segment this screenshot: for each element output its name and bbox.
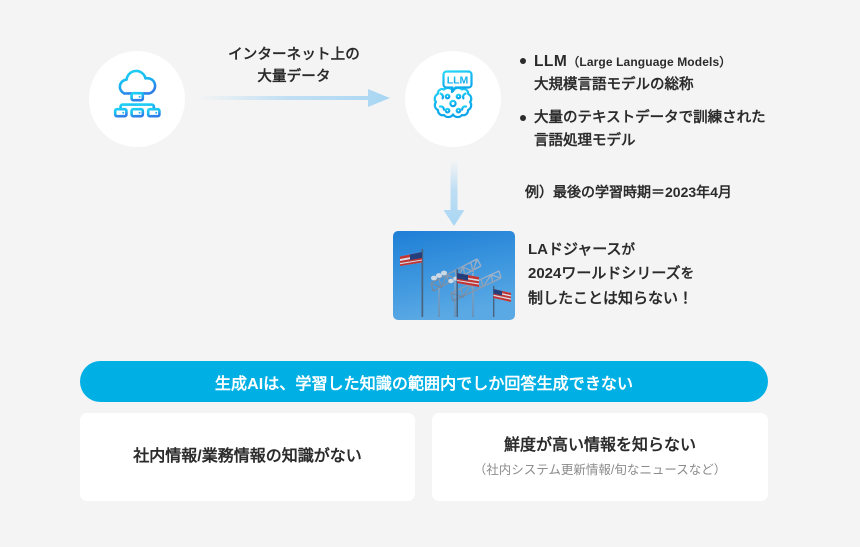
caption-particle: が [622,242,636,257]
llm-icon-circle: LLM [405,51,501,147]
card-subtitle: （社内システム更新情報/旬なニュースなど） [474,462,726,480]
bullet-paren: （Large Language Models） [567,55,731,69]
cloud-network-icon [106,66,168,133]
flow-arrow-label: インターネット上の 大量データ [206,44,382,89]
caption-text: 2024ワールドシリーズ [528,265,681,282]
bullet-content: 大量のテキストデータで訓練された 言語処理モデル [534,107,766,152]
list-item: LLM（Large Language Models） 大規模言語モデルの総称 [520,50,820,96]
bullet-sub: 言語処理モデル [534,133,636,149]
source-icon-circle [89,51,185,147]
card-title: 社内情報/業務情報の知識がない [133,446,361,468]
arrow-right-icon [196,86,392,110]
llm-badge-text: LLM [447,74,469,86]
limitation-card-internal-info: 社内情報/業務情報の知識がない [80,413,415,501]
caption-line: 制したことは知らない！ [528,287,694,311]
dodger-stadium-flags-photo [393,231,515,320]
limitation-card-fresh-info: 鮮度が高い情報を知らない （社内システム更新情報/旬なニュースなど） [432,413,768,501]
caption-text: LAドジャース [528,241,622,258]
caption-particle: を [681,266,695,281]
bullet-content: LLM（Large Language Models） 大規模言語モデルの総称 [534,50,731,96]
caption-line: 2024ワールドシリーズを [528,262,694,286]
arrow-down-icon [440,160,468,228]
bullet-main: 大量のテキストデータで訓練された [534,110,766,126]
caption-text: 制したことは知らない！ [528,290,693,307]
bullet-dot-icon [520,115,526,121]
photo-caption: LAドジャースが 2024ワールドシリーズを 制したことは知らない！ [528,238,694,311]
banner-text: 生成AIは、学習した知識の範囲内でしか回答生成できない [215,370,633,394]
caption-line: LAドジャースが [528,238,694,262]
infographic-canvas: インターネット上の 大量データ [0,0,860,547]
llm-brain-icon: LLM [421,65,485,134]
card-title: 鮮度が高い情報を知らない [504,435,696,457]
flow-label-line1: インターネット上の [206,44,382,66]
example-note: 例）最後の学習時期＝2023年4月 [525,182,732,202]
bullet-main: LLM [534,53,567,70]
key-message-banner: 生成AIは、学習した知識の範囲内でしか回答生成できない [80,361,768,402]
bullet-sub: 大規模言語モデルの総称 [534,77,694,93]
list-item: 大量のテキストデータで訓練された 言語処理モデル [520,107,820,152]
bullet-dot-icon [520,58,526,64]
llm-definition-list: LLM（Large Language Models） 大規模言語モデルの総称 大… [520,50,820,163]
